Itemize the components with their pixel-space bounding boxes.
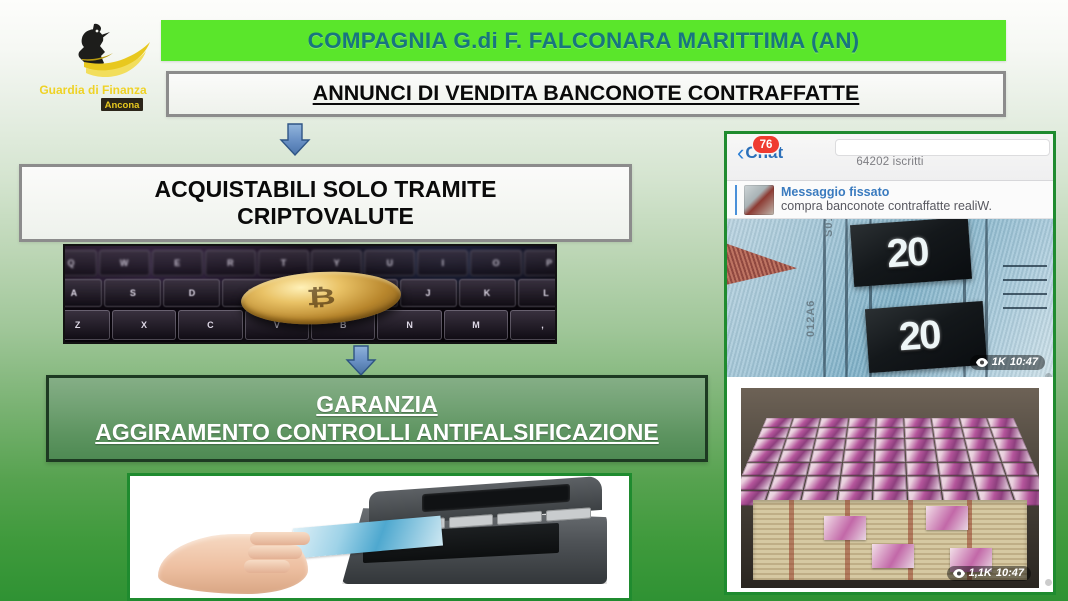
pinned-title: Messaggio fissato: [781, 185, 992, 199]
pinned-thumbnail: [744, 185, 774, 215]
serial-number: 012A6: [805, 300, 817, 337]
security-wave: [845, 219, 848, 377]
bundle-band: [845, 500, 850, 580]
search-input[interactable]: [835, 139, 1050, 156]
pinned-meta: Messaggio fissato compra banconote contr…: [781, 185, 992, 214]
serial-number: S013D2: [823, 219, 835, 237]
acquistabili-line2: CRIPTOVALUTE: [154, 203, 496, 230]
eagle-emblem-icon: [79, 24, 111, 69]
acquistabili-line1: ACQUISTABILI SOLO TRAMITE: [154, 176, 496, 203]
down-arrow-icon: [344, 345, 378, 376]
view-count-overlay: 1,1K 10:47: [947, 566, 1031, 581]
finger: [250, 532, 310, 545]
photo-frame: 1,1K 10:47: [741, 388, 1039, 588]
telegram-chat-screenshot: ‹ Chat 76 64202 iscritti Messaggio fissa…: [724, 131, 1056, 595]
pinned-accent-bar: [735, 185, 737, 215]
message-time: 10:47: [1010, 356, 1038, 368]
flow-box-annunci-label: ANNUNCI DI VENDITA BANCONOTE CONTRAFFATT…: [313, 81, 860, 106]
pinned-text: compra banconote contraffatte realiW.: [781, 199, 992, 214]
message-time: 10:47: [996, 567, 1024, 579]
garanzia-line1: GARANZIA: [316, 391, 437, 417]
guardia-di-finanza-logo: Guardia di Finanza Ancona: [28, 12, 158, 117]
logo-text-line1: Guardia di Finanza: [39, 83, 147, 97]
pinned-message[interactable]: Messaggio fissato compra banconote contr…: [727, 181, 1053, 219]
message-photo-stacked-euro[interactable]: 1,1K 10:47: [727, 380, 1053, 595]
garanzia-line2: AGGIRAMENTO CONTROLLI ANTIFALSIFICAZIONE: [95, 419, 658, 445]
subscriber-count: 64202 iscritti: [727, 156, 1053, 168]
unread-count-badge: 76: [753, 136, 779, 153]
eye-icon: [953, 569, 965, 578]
finger: [248, 546, 302, 559]
view-count-overlay: 1K 10:47: [970, 355, 1045, 370]
eye-icon: [976, 358, 988, 367]
flow-box-garanzia: GARANZIA AGGIRAMENTO CONTROLLI ANTIFALSI…: [46, 375, 708, 462]
logo-text-line2: Ancona: [105, 100, 141, 111]
message-photo-twenty-euro[interactable]: 20 20 S013D2 012A6 1K 10:47: [727, 219, 1053, 377]
header-banner: COMPAGNIA G.di F. FALCONARA MARITTIMA (A…: [161, 20, 1006, 61]
chat-header: ‹ Chat 76 64202 iscritti: [727, 134, 1053, 181]
bundle-band: [908, 500, 913, 580]
finger: [244, 560, 290, 573]
banknote-bundles-top: [741, 418, 1039, 506]
flow-box-annunci: ANNUNCI DI VENDITA BANCONOTE CONTRAFFATT…: [166, 71, 1006, 117]
scroll-indicator: [1045, 373, 1052, 377]
flow-box-garanzia-label: GARANZIA AGGIRAMENTO CONTROLLI ANTIFALSI…: [95, 391, 658, 446]
banknote-detector-image: [127, 473, 632, 601]
security-wave: [823, 219, 826, 377]
visible-note: [872, 544, 914, 568]
denomination-value: 20: [885, 230, 929, 278]
down-arrow-icon: [278, 123, 312, 156]
visible-note: [926, 506, 968, 530]
view-count: 1K: [992, 356, 1006, 368]
flow-box-acquistabili-label: ACQUISTABILI SOLO TRAMITE CRIPTOVALUTE: [154, 176, 496, 230]
bitcoin-keyboard-image: QWE RTY UIO P ASD FGH JKL ZXC VBN M,: [63, 244, 557, 344]
scroll-indicator: [1045, 579, 1052, 586]
visible-note: [824, 516, 866, 540]
bundle-band: [789, 500, 794, 580]
view-count: 1,1K: [969, 567, 992, 579]
banknote-edge-lines: [1003, 265, 1047, 321]
flow-box-acquistabili: ACQUISTABILI SOLO TRAMITE CRIPTOVALUTE: [19, 164, 632, 242]
denomination-value: 20: [897, 313, 941, 361]
header-title: COMPAGNIA G.di F. FALCONARA MARITTIMA (A…: [308, 28, 860, 54]
